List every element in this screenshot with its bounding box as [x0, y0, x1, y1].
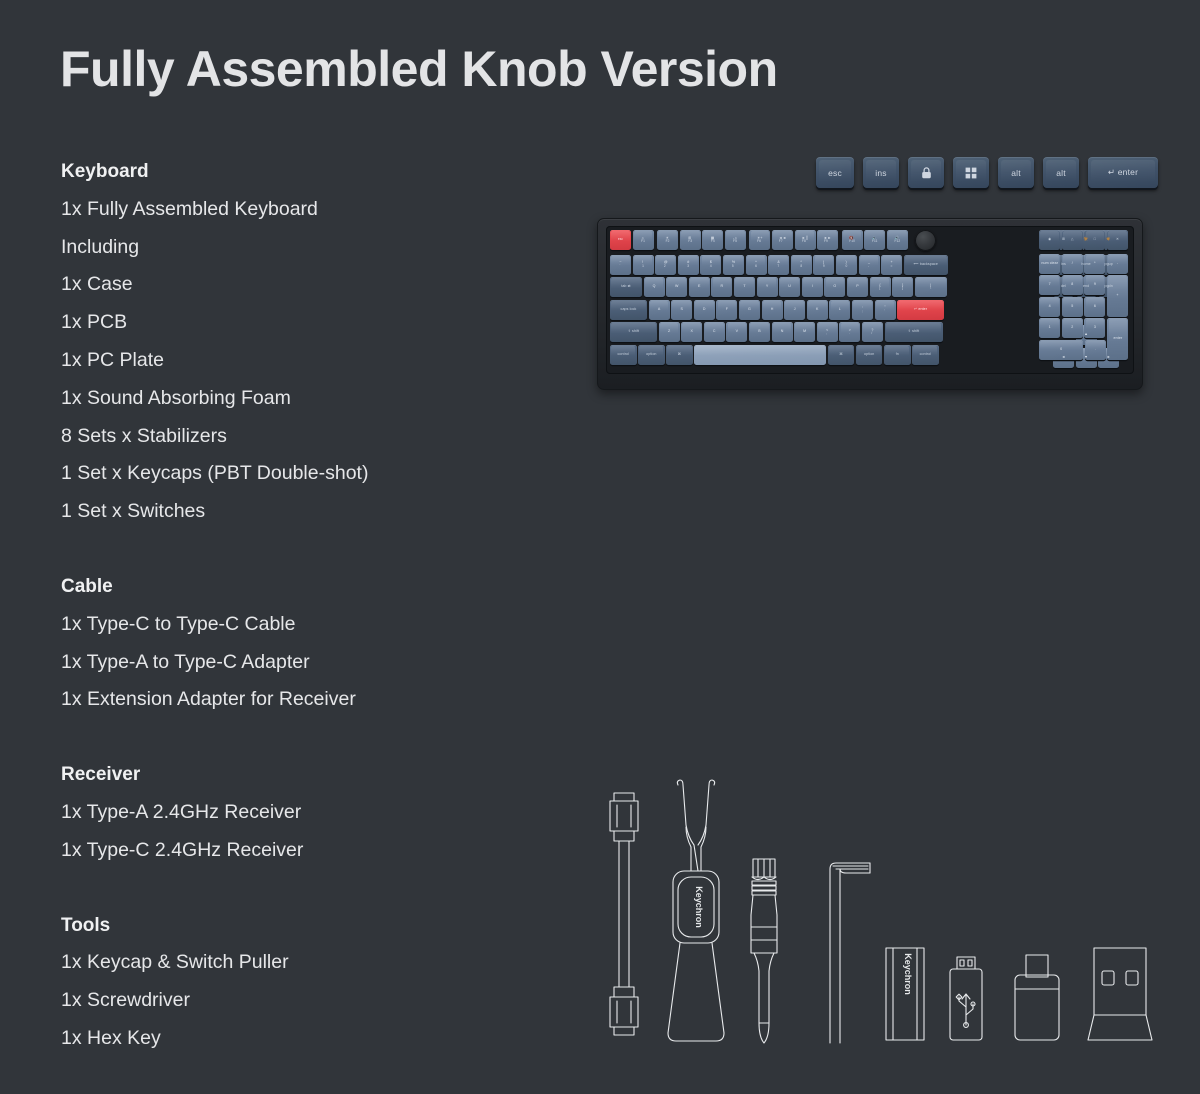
spec-item: 1x Keycap & Switch Puller: [61, 944, 521, 982]
key-legend: /: [1072, 262, 1073, 266]
extra-keycap-label: esc: [828, 168, 842, 178]
key-f6: ☀+F6: [749, 230, 770, 250]
key-f1: ☼F1: [633, 230, 654, 250]
key-legend: T: [743, 285, 745, 289]
spec-section-receiver: Receiver1x Type-A 2.4GHz Receiver1x Type…: [61, 756, 521, 869]
key-legend: 7: [1049, 283, 1051, 287]
key-n: N: [772, 322, 793, 342]
key-legend: caps lock: [621, 308, 637, 312]
key-legend: 8: [1071, 283, 1073, 287]
key-legend: F: [726, 308, 728, 312]
spec-item: 1x Type-C 2.4GHz Receiver: [61, 832, 521, 870]
spec-item: 1 Set x Keycaps (PBT Double-shot): [61, 455, 521, 493]
key-legend: -: [1117, 262, 1118, 266]
key-blank: >.: [839, 322, 860, 342]
keyboard-product-image: esc☼F1☀F2⊞F3▦F4-☼F5☀+F6◄◄F7►║F8►►F9🔇F10🔉…: [597, 218, 1143, 390]
key-legend: control: [920, 353, 932, 357]
section-gap: [61, 531, 521, 568]
key-x: X: [681, 322, 702, 342]
key-legend: Z: [668, 330, 670, 334]
keyboard-plate: esc☼F1☀F2⊞F3▦F4-☼F5☀+F6◄◄F7►║F8►►F9🔇F10🔉…: [606, 226, 1134, 374]
puller-brand-label: Keychron: [694, 886, 704, 928]
section-gap: [61, 870, 521, 907]
key-legend: ?/: [871, 329, 873, 336]
key-legend: H: [771, 308, 774, 312]
key-f9: ►►F9: [817, 230, 838, 250]
key-blank: #3: [678, 255, 699, 275]
key-u: U: [779, 277, 800, 297]
key-control: control: [912, 345, 939, 365]
key-legend: enter: [1114, 337, 1123, 341]
key-m: M: [794, 322, 815, 342]
type-c-adapter-icon: [1015, 955, 1059, 1040]
key-legend: N: [781, 330, 784, 334]
key-legend: #3: [687, 261, 689, 268]
key-legend: 🔆: [1084, 238, 1089, 242]
key-c: C: [704, 322, 725, 342]
key-legend: ↵ enter: [914, 308, 927, 312]
key-blank: $4: [700, 255, 721, 275]
key-option: option: [856, 345, 883, 365]
spec-item: 1x Type-C to Type-C Cable: [61, 606, 521, 644]
extra-keycap-windows-icon: [953, 157, 989, 188]
key-fn: fn: [884, 345, 911, 365]
usb-receiver-dongle-icon: [1088, 948, 1152, 1040]
spec-item: 1 Set x Switches: [61, 493, 521, 531]
key-numpad-dot: .: [1085, 340, 1106, 360]
key-legend: $4: [710, 261, 712, 268]
switch-box-icon: Keychron: [886, 948, 924, 1040]
key-numpad-plus: +: [1107, 275, 1128, 317]
key-f7: ◄◄F7: [772, 230, 793, 250]
key-numpad-enter: enter: [1107, 318, 1128, 360]
key-legend: :;: [862, 306, 863, 313]
key-legend: V: [736, 330, 739, 334]
key-blank: @2: [655, 255, 676, 275]
key-w: W: [666, 277, 687, 297]
key-legend: E: [698, 285, 701, 289]
spec-section-tools: Tools1x Keycap & Switch Puller1x Screwdr…: [61, 907, 521, 1058]
key-backspace: ⟵ backspace: [904, 255, 948, 275]
key-blank: ◉: [1039, 230, 1060, 250]
key-blank: "': [875, 300, 896, 320]
key-legend: ◉: [1048, 238, 1051, 242]
keyboard-numpad: ◉△□✕num clear/*-789456+1230.enter: [1039, 230, 1130, 361]
key-h: H: [762, 300, 783, 320]
key-legend: 1: [1049, 326, 1051, 330]
key-legend: pgup: [1104, 263, 1112, 267]
key-legend: option: [646, 353, 656, 357]
key-legend: ☀+F6: [757, 237, 763, 244]
spec-item: 1x Type-A 2.4GHz Receiver: [61, 794, 521, 832]
spec-section-cable: Cable1x Type-C to Type-C Cable1x Type-A …: [61, 568, 521, 719]
key-legend: {[: [879, 284, 880, 291]
key-legend: tab ⇄: [621, 285, 631, 289]
extra-keycap-enter: ↵ enter: [1088, 157, 1158, 188]
key-b: B: [749, 322, 770, 342]
key-s: S: [671, 300, 692, 320]
spec-item: 1x Case: [61, 266, 521, 304]
key-legend: 🔅: [1106, 238, 1111, 242]
key-k: K: [807, 300, 828, 320]
key-blank: ?/: [862, 322, 883, 342]
spec-item: 1x Screwdriver: [61, 982, 521, 1020]
key-numclear: num clear: [1039, 254, 1060, 274]
key-blank: ~`: [610, 255, 631, 275]
keycap-switch-puller-icon: Keychron: [668, 780, 724, 1041]
key-legend: I: [812, 285, 813, 289]
key-legend: -☼F5: [733, 237, 738, 244]
key-f11: 🔉F11: [864, 230, 885, 250]
key-legend: U: [788, 285, 791, 289]
key-blank: &7: [768, 255, 789, 275]
key-4: 4: [1039, 297, 1060, 317]
key-legend: (9: [823, 261, 825, 268]
key-blank: )0: [836, 255, 857, 275]
spec-section-keyboard: Keyboard1x Fully Assembled KeyboardInclu…: [61, 153, 521, 531]
extra-keycap-ins: ins: [863, 157, 899, 188]
extra-keycap-label: ins: [875, 168, 886, 178]
key-legend: )0: [846, 261, 848, 268]
key-1: 1: [1039, 318, 1060, 338]
spec-heading: Receiver: [61, 756, 521, 794]
key-legend: ►►F9: [824, 237, 831, 244]
key-legend: ⌘: [678, 353, 682, 357]
key-legend: G: [748, 308, 751, 312]
spec-heading: Cable: [61, 568, 521, 606]
key-legend: 6: [1094, 305, 1096, 309]
spec-item: 1x Fully Assembled Keyboard: [61, 191, 521, 229]
key-legend: P: [856, 285, 859, 289]
key-f10: 🔇F10: [842, 230, 863, 250]
key-legend: ►║F8: [802, 237, 808, 244]
key-t: T: [734, 277, 755, 297]
key-legend: K: [816, 308, 819, 312]
key-legend: 4: [1049, 305, 1051, 309]
key-d: D: [694, 300, 715, 320]
key-y: Y: [757, 277, 778, 297]
key-6: 6: [1084, 297, 1105, 317]
switch-box-brand-label: Keychron: [903, 953, 913, 995]
key-blank: _-: [859, 255, 880, 275]
key-esc: esc: [610, 230, 631, 250]
key-legend: J: [794, 308, 796, 312]
key-p: P: [847, 277, 868, 297]
extra-keycap-label: ↵ enter: [1108, 167, 1138, 178]
key-blank: <,: [817, 322, 838, 342]
key-legend: X: [690, 330, 693, 334]
type-a-adapter-icon: [950, 957, 982, 1040]
key-v: V: [726, 322, 747, 342]
key-legend: ▦F4: [711, 237, 715, 244]
key-f12: 🔊F12: [887, 230, 908, 250]
key-legend: ►: [1107, 356, 1111, 360]
key-legend: M: [803, 330, 806, 334]
key-e: E: [689, 277, 710, 297]
spec-item: 1x Hex Key: [61, 1020, 521, 1058]
key-legend: ☼F1: [641, 237, 645, 244]
key-blank: +=: [881, 255, 902, 275]
key-legend: ^6: [755, 261, 757, 268]
spec-item: 1x Extension Adapter for Receiver: [61, 681, 521, 719]
key-f2: ☀F2: [657, 230, 678, 250]
key-7: 7: [1039, 275, 1060, 295]
spec-list-column: Keyboard1x Fully Assembled KeyboardInclu…: [61, 153, 521, 1058]
spec-heading: Tools: [61, 907, 521, 945]
key-j: J: [784, 300, 805, 320]
key-legend: ▲: [1084, 333, 1088, 337]
key-legend: 0: [1060, 348, 1062, 352]
spec-item: 8 Sets x Stabilizers: [61, 418, 521, 456]
key-option: option: [638, 345, 665, 365]
key-legend: S: [680, 308, 683, 312]
key-legend: <,: [826, 329, 828, 336]
extra-keycap-alt: alt: [1043, 157, 1079, 188]
key-legend: Q: [653, 285, 656, 289]
key-legend: ◄◄F7: [779, 237, 786, 244]
key-q: Q: [644, 277, 665, 297]
key-legend: %5: [732, 261, 735, 268]
key-5: 5: [1062, 297, 1083, 317]
key-legend: △: [1071, 238, 1074, 242]
key-blank: ⌘: [666, 345, 693, 365]
extra-keycap-lock-icon: [908, 157, 944, 188]
key-legend: pgdn: [1104, 285, 1112, 289]
extra-keycap-label: alt: [1056, 168, 1066, 178]
numpad-grid-789-456: 789456+: [1039, 275, 1130, 318]
key-f: F: [716, 300, 737, 320]
key-legend: num clear: [1041, 262, 1058, 266]
key-legend: "': [884, 306, 885, 313]
spec-item: 1x PCB: [61, 304, 521, 342]
key-legend: W: [675, 285, 679, 289]
key-legend: ☀F2: [666, 237, 670, 244]
key-legend: 🔉F11: [872, 237, 878, 244]
key-legend: ~`: [619, 261, 621, 268]
key-capslock: caps lock: [610, 300, 647, 320]
key-legend: L: [839, 308, 841, 312]
key-legend: A: [658, 308, 661, 312]
key-2: 2: [1062, 318, 1083, 338]
key-enter: ↵ enter: [897, 300, 944, 320]
key-blank: [694, 345, 826, 365]
key-legend: +=: [891, 261, 893, 268]
key-legend: &7: [777, 261, 780, 268]
numpad-row-0-dot: 0.: [1039, 340, 1107, 360]
key-legend: D: [703, 308, 706, 312]
numpad-row: 456: [1039, 297, 1107, 317]
key-legend: home: [1081, 263, 1090, 267]
key-tab: tab ⇄: [610, 277, 642, 297]
spec-heading: Keyboard: [61, 153, 521, 191]
key-legend: ⇧ shift: [908, 330, 919, 334]
key-legend: R: [721, 285, 724, 289]
key-legend: ✕: [1116, 238, 1119, 242]
extra-keycap-alt: alt: [998, 157, 1034, 188]
key-l: L: [829, 300, 850, 320]
numpad-digits-123-0: 1230.: [1039, 318, 1107, 361]
key-blank: !1: [633, 255, 654, 275]
key-legend: 🔇F10: [849, 237, 855, 244]
key-blank: }]: [892, 277, 913, 297]
key-shift: ⇧ shift: [885, 322, 943, 342]
key-legend: C: [713, 330, 716, 334]
key-legend: ⊞F3: [688, 237, 692, 244]
key-g: G: [739, 300, 760, 320]
key-legend: ⌘: [839, 353, 843, 357]
key-z: Z: [659, 322, 680, 342]
key-legend: ⊞: [1062, 238, 1065, 242]
key-legend: option: [864, 353, 874, 357]
key-legend: *: [1094, 262, 1096, 266]
numpad-row-123: 123: [1039, 318, 1107, 338]
key-legend: B: [758, 330, 761, 334]
key-blank: :;: [852, 300, 873, 320]
key-legend: ins: [1061, 263, 1066, 267]
key-legend: control: [618, 353, 630, 357]
extra-keycaps-strip: escinsaltalt↵ enter: [816, 157, 1158, 188]
numpad-row: 789: [1039, 275, 1107, 295]
spec-item: Including: [61, 229, 521, 267]
key-f5: -☼F5: [725, 230, 746, 250]
key-legend: □: [1094, 238, 1096, 242]
section-gap: [61, 719, 521, 756]
spec-item: 1x Sound Absorbing Foam: [61, 380, 521, 418]
key-blank: ^6: [746, 255, 767, 275]
key-legend: ⇧ shift: [628, 330, 639, 334]
key-legend: 🔊F12: [894, 237, 900, 244]
product-contents-page: Fully Assembled Knob Version Keyboard1x …: [0, 0, 1200, 1094]
key-legend: *8: [800, 261, 802, 268]
key-shift: ⇧ shift: [610, 322, 657, 342]
key-legend: |\: [930, 284, 931, 291]
key-legend: _-: [868, 261, 870, 268]
key-legend: .: [1095, 348, 1096, 352]
key-legend: ▼: [1084, 356, 1088, 360]
key-legend: esc: [618, 238, 623, 241]
key-o: O: [824, 277, 845, 297]
key-legend: fn: [896, 353, 899, 357]
key-legend: 2: [1071, 326, 1073, 330]
key-control: control: [610, 345, 637, 365]
page-title: Fully Assembled Knob Version: [60, 42, 778, 97]
key-legend: 9: [1094, 283, 1096, 287]
key-blank: |\: [915, 277, 947, 297]
type-c-cable-icon: [610, 793, 638, 1035]
key-legend: ⟵ backspace: [914, 263, 938, 267]
key-r: R: [711, 277, 732, 297]
numpad-digits-789-456: 789456: [1039, 275, 1107, 318]
key-blank: %5: [723, 255, 744, 275]
key-legend: }]: [902, 284, 903, 291]
key-f8: ►║F8: [795, 230, 816, 250]
key-legend: end: [1083, 285, 1089, 289]
spec-item: 1x PC Plate: [61, 342, 521, 380]
key-f4: ▦F4: [702, 230, 723, 250]
accessories-illustration: Keychron: [590, 775, 1170, 1065]
key-legend: 5: [1071, 305, 1073, 309]
key-legend: @2: [664, 261, 668, 268]
screwdriver-icon: [751, 859, 777, 1043]
key-legend: Y: [766, 285, 769, 289]
extra-keycap-esc: esc: [816, 157, 854, 188]
key-blank: ⌘: [828, 345, 855, 365]
key-legend: 3: [1094, 326, 1096, 330]
key-f3: ⊞F3: [680, 230, 701, 250]
key-blank: {[: [870, 277, 891, 297]
key-legend: >.: [849, 329, 851, 336]
key-a: A: [649, 300, 670, 320]
key-legend: ◄: [1062, 356, 1066, 360]
extra-keycap-label: alt: [1011, 168, 1021, 178]
hex-key-icon: [830, 863, 870, 1043]
spec-item: 1x Type-A to Type-C Adapter: [61, 644, 521, 682]
key-i: I: [802, 277, 823, 297]
key-legend: +: [1116, 294, 1118, 298]
key-legend: O: [833, 285, 836, 289]
key-legend: del: [1061, 285, 1066, 289]
key-blank: *8: [791, 255, 812, 275]
key-legend: !1: [642, 261, 644, 268]
key-blank: (9: [813, 255, 834, 275]
rotary-encoder-knob: [915, 230, 936, 251]
